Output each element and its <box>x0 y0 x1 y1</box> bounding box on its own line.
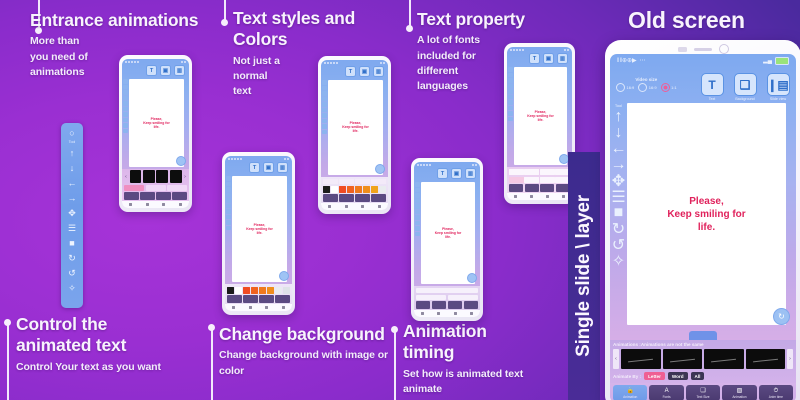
style-button[interactable]: ▧ Animation <box>722 385 756 400</box>
font-cell[interactable] <box>540 177 555 183</box>
background-panel[interactable] <box>225 284 292 304</box>
radio-label: 16:9 <box>627 85 635 90</box>
font-chip[interactable] <box>323 179 338 184</box>
android-nav-bar[interactable] <box>414 310 480 317</box>
tool-button[interactable] <box>339 194 354 202</box>
tool-button[interactable] <box>243 295 258 303</box>
text-tool-button[interactable]: T <box>249 162 260 173</box>
button-caption: Fonts <box>663 395 671 399</box>
text-icon[interactable]: T <box>701 73 724 96</box>
editor-body: Please, Keep smiling for life. <box>122 77 189 169</box>
button-caption: Animation <box>732 395 746 399</box>
arrow-down-glyph: ↓ <box>70 164 75 173</box>
android-nav-bar[interactable] <box>225 304 292 311</box>
scale-glyph: ✧ <box>612 251 625 271</box>
tool-button-row[interactable] <box>124 192 187 200</box>
animation-frame[interactable] <box>746 349 786 369</box>
radio-circle[interactable] <box>616 83 625 92</box>
timing-panel[interactable] <box>414 286 480 311</box>
slide-tool-button[interactable]: ▥ <box>174 65 185 76</box>
feature-title: Entrance animations <box>30 10 220 31</box>
image-tool-button[interactable]: ▣ <box>359 66 370 77</box>
top-controls: Video size 16:9 16:9 1:1 <box>610 67 796 101</box>
phone-mockup-old-screen: ‖‖⊕⊕▶ ⋯ ▂▄ Video size 16:9 <box>605 40 800 400</box>
side-toolbar[interactable] <box>414 180 421 286</box>
feature-title: Text styles and Colors <box>233 8 393 51</box>
feature-title: Animation timing <box>403 321 563 364</box>
battery-icons <box>564 49 569 51</box>
phone-screen: T ▣ ▥ Please, Keep smiling for life. <box>414 162 480 317</box>
android-nav-bar[interactable] <box>122 201 189 208</box>
strip-next-arrow[interactable]: › <box>183 174 187 180</box>
square-icon[interactable]: ■ <box>613 207 624 218</box>
chip[interactable] <box>146 185 166 191</box>
swatch[interactable] <box>235 287 242 294</box>
swatch[interactable] <box>227 287 234 294</box>
single-slide-layer-band: Single slide \ layer <box>568 152 600 400</box>
editor-body: Please, Keep smiling for life. <box>225 174 292 284</box>
old-screen-display: ‖‖⊕⊕▶ ⋯ ▂▄ Video size 16:9 <box>610 54 796 400</box>
button-caption: Animation <box>623 395 637 399</box>
arrow-left-icon[interactable]: ← <box>613 143 624 154</box>
arrow-up-icon[interactable]: ↑ <box>65 146 79 160</box>
tool-button-row[interactable] <box>509 184 570 192</box>
feature-old-screen: Old screen <box>628 6 798 34</box>
status-right: ▂▄ <box>763 57 789 65</box>
text-tool-button[interactable]: T <box>345 66 356 77</box>
status-icons <box>228 158 242 160</box>
text-control-toolbar[interactable]: ○ Tool ↑ ↓ ← → ✥ ☰ ■ ↻ ↺ ✧ <box>61 123 83 308</box>
rotate-cw-icon[interactable]: ↻ <box>613 223 624 234</box>
animation-frame[interactable] <box>156 170 168 183</box>
tool-button[interactable] <box>432 301 446 309</box>
status-left: ‖‖⊕⊕▶ ⋯ <box>617 57 646 64</box>
text-canvas[interactable]: Please, Keep smiling for life. <box>514 67 567 165</box>
chip[interactable] <box>167 185 187 191</box>
tool-button[interactable] <box>464 301 478 309</box>
band-label: Single slide \ layer <box>573 195 595 357</box>
feature-title: Control the animated text <box>16 314 216 357</box>
timing-values-row[interactable] <box>416 295 478 300</box>
arrow-down-icon[interactable]: ↓ <box>65 161 79 175</box>
overflow-icon: ⋯ <box>640 57 646 64</box>
tool-button-row[interactable] <box>323 194 386 202</box>
font-chip[interactable] <box>355 179 370 184</box>
lock-button[interactable]: 🔒 Animation <box>613 385 647 400</box>
text-tool-button[interactable]: T <box>529 53 540 64</box>
battery-icon <box>775 57 789 65</box>
preview-fab[interactable] <box>467 273 477 283</box>
font-row[interactable] <box>323 179 386 184</box>
panel-drag-handle[interactable] <box>610 331 796 340</box>
tool-button[interactable] <box>227 295 242 303</box>
arrow-right-icon[interactable]: → <box>613 159 624 170</box>
tool-button-row[interactable] <box>227 295 290 303</box>
text-tool-button[interactable]: T <box>146 65 157 76</box>
swatch[interactable] <box>355 186 362 193</box>
rotate-cw-glyph: ↻ <box>68 254 76 263</box>
image-tool[interactable]: ❑ Background <box>733 73 757 101</box>
animation-frame[interactable] <box>170 170 182 183</box>
font-grid-row[interactable] <box>509 177 570 183</box>
strip-prev-arrow[interactable]: ‹ <box>124 174 128 180</box>
image-tool-button[interactable]: ▣ <box>451 168 462 179</box>
preview-fab[interactable] <box>279 271 289 281</box>
arrow-left-glyph: ← <box>68 179 77 188</box>
editor-body: Please, Keep smiling for life. <box>414 180 480 286</box>
rotate-ccw-icon[interactable]: ↺ <box>65 266 79 280</box>
animate-by-chips[interactable] <box>124 185 187 191</box>
feature-title: Change background <box>219 324 399 345</box>
swatch[interactable] <box>267 287 274 294</box>
speaker-icon <box>694 48 712 51</box>
text-size-button[interactable]: ❑ Text Size <box>686 385 720 400</box>
animation-filmstrip[interactable]: ‹ › <box>124 170 187 183</box>
arrow-up-icon[interactable]: ↑ <box>613 111 624 122</box>
scale-glyph: ✧ <box>68 284 76 293</box>
connector-dot-4 <box>4 319 11 326</box>
feature-subtitle: Change background with image or color <box>219 348 399 378</box>
canvas-text: Please, Keep smiling for life. <box>143 117 170 129</box>
feature-control-animated-text: Control the animated text Control Your t… <box>16 314 216 375</box>
video-size-options[interactable]: 16:9 16:9 1:1 <box>616 83 677 92</box>
editor-toolbar[interactable]: T ▣ ▥ <box>507 52 572 65</box>
promo-banner: Entrance animations More than you need o… <box>0 0 800 400</box>
feature-change-background: Change background Change background with… <box>219 324 399 379</box>
animation-panel[interactable]: ‹ › <box>122 169 189 201</box>
phone-mockup-background: T ▣ ▥ Please, Keep smiling for life. <box>222 152 295 315</box>
editor-toolbar[interactable]: T ▣ ▥ <box>414 167 480 180</box>
editor-toolbar[interactable]: T ▣ ▥ <box>225 161 292 174</box>
feature-animation-timing: Animation timing Set how is animated tex… <box>403 321 563 397</box>
swatch[interactable] <box>371 186 378 193</box>
editor-body: Tool ↑ ↓ ← → ✥ ☰ ■ ↻ ↺ ✧ Please, Keep sm… <box>610 101 796 331</box>
timing-value[interactable] <box>416 295 446 300</box>
phone-mockup-colors: T ▣ ▥ Please, Keep smiling for life. <box>318 56 391 214</box>
list-icon[interactable]: ☰ <box>65 221 79 235</box>
slide-tool-button[interactable]: ▥ <box>465 168 476 179</box>
font-chip[interactable] <box>371 179 386 184</box>
slide-tool-button[interactable]: ▥ <box>557 53 568 64</box>
tool-button[interactable] <box>275 295 290 303</box>
font-cell[interactable] <box>524 169 539 175</box>
canvas-text-line-1: Please, <box>667 195 745 208</box>
color-swatches[interactable] <box>323 186 386 193</box>
animations-filmstrip[interactable]: ‹ › <box>613 349 793 369</box>
timer-icon: ⏱ <box>773 388 778 394</box>
feature-title: Old screen <box>628 6 798 34</box>
feature-title: Text property <box>417 9 547 30</box>
expand-icon[interactable]: ✥ <box>613 175 624 186</box>
phone-mockup-entrance: T ▣ ▥ Please, Keep smiling for life. ‹ <box>119 55 192 212</box>
tool-button[interactable] <box>416 301 430 309</box>
battery-icons <box>380 62 385 64</box>
status-icons <box>324 62 338 64</box>
preview-fab[interactable] <box>176 156 186 166</box>
scale-icon[interactable]: ✧ <box>65 281 79 295</box>
canvas-text: Please, Keep smiling for life. <box>342 121 369 133</box>
phone-mockup-timing: T ▣ ▥ Please, Keep smiling for life. <box>411 158 483 321</box>
tool-button[interactable] <box>448 301 462 309</box>
arrow-right-icon[interactable]: → <box>65 191 79 205</box>
rotate-ccw-glyph: ↺ <box>68 269 76 278</box>
status-icons <box>510 49 524 51</box>
tool-button[interactable] <box>355 194 370 202</box>
feature-subtitle: Set how is animated text animate <box>403 367 563 397</box>
swatch[interactable] <box>259 287 266 294</box>
strip-prev-arrow[interactable]: ‹ <box>613 349 619 369</box>
font-chip[interactable] <box>339 179 354 184</box>
scale-icon[interactable]: ✧ <box>613 255 624 266</box>
battery-icons <box>284 158 289 160</box>
swatch[interactable] <box>251 287 258 294</box>
swatch[interactable] <box>331 186 338 193</box>
animate-by-group[interactable]: Animate By : Letter Word All <box>613 372 793 380</box>
rotate-cw-icon[interactable]: ↻ <box>65 251 79 265</box>
style-icon: ▧ <box>737 388 743 394</box>
editor-toolbar[interactable]: T ▣ ▥ <box>122 64 189 77</box>
tool-button[interactable] <box>156 192 171 200</box>
canvas-text: Please, Keep smiling for life. <box>435 227 462 239</box>
tool-button[interactable] <box>172 192 187 200</box>
canvas-text-line-3: life. <box>527 118 554 122</box>
font-icon: A <box>665 388 669 394</box>
phone-screen: T ▣ ▥ Please, Keep smiling for life. <box>321 60 388 210</box>
font-button[interactable]: A Fonts <box>649 385 683 400</box>
slide-tool-button[interactable]: ▥ <box>373 66 384 77</box>
color-swatches[interactable] <box>227 287 290 294</box>
swatch[interactable] <box>243 287 250 294</box>
swatch[interactable] <box>275 287 282 294</box>
list-glyph: ☰ <box>68 224 76 233</box>
phone-screen: T ▣ ▥ Please, Keep smiling for life. <box>225 156 292 311</box>
text-control-toolbar[interactable]: Tool ↑ ↓ ← → ✥ ☰ ■ ↻ ↺ ✧ <box>610 101 627 331</box>
arrow-right-glyph: → <box>68 194 77 203</box>
swatch[interactable] <box>323 186 330 193</box>
tool-button[interactable] <box>509 184 523 192</box>
square-icon[interactable]: ■ <box>65 236 79 250</box>
video-size-group[interactable]: Video size 16:9 16:9 1:1 <box>616 73 677 92</box>
button-caption: Text Size <box>697 395 710 399</box>
tool-button[interactable] <box>371 194 386 202</box>
animation-frame[interactable] <box>130 170 142 183</box>
tool-button[interactable] <box>323 194 338 202</box>
tool-button[interactable] <box>124 192 139 200</box>
font-cell[interactable] <box>524 177 539 183</box>
tool-button[interactable] <box>540 184 554 192</box>
animation-frame[interactable] <box>143 170 155 183</box>
phone-screen: T ▣ ▥ Please, Keep smiling for life. ‹ <box>122 59 189 208</box>
arrow-left-icon[interactable]: ← <box>65 176 79 190</box>
font-cell[interactable] <box>540 169 555 175</box>
animate-by-all[interactable]: All <box>691 372 705 380</box>
animate-by-word[interactable]: Word <box>668 372 688 380</box>
animations-header: Animations :Animations are not the same <box>613 342 793 347</box>
connector-line-3 <box>409 0 411 28</box>
text-canvas[interactable]: Please, Keep smiling for life. <box>421 182 475 284</box>
side-toolbar[interactable] <box>122 77 129 169</box>
slides-icon[interactable]: ❙▤ <box>767 73 790 96</box>
canvas-text: Please, Keep smiling for life. <box>246 223 273 235</box>
play-preview-button[interactable]: ↻ <box>773 308 790 325</box>
square-glyph: ■ <box>69 239 74 248</box>
animation-frame[interactable] <box>663 349 703 369</box>
tool-button-row[interactable] <box>416 301 478 309</box>
image-icon[interactable]: ❑ <box>734 73 757 96</box>
status-icons: ‖‖⊕⊕▶ <box>617 57 637 64</box>
swatch[interactable] <box>347 186 354 193</box>
none-glyph: ○ <box>69 129 74 138</box>
text-canvas[interactable]: Please, Keep smiling for life. <box>129 79 184 167</box>
timing-button[interactable]: ⏱ Anim time <box>759 385 793 400</box>
editor-body: Please, Keep smiling for life. <box>321 78 388 177</box>
canvas-text-line-3: life. <box>667 221 745 234</box>
list-icon[interactable]: ☰ <box>613 191 624 202</box>
tool-button[interactable] <box>140 192 155 200</box>
connector-line-4 <box>7 322 9 400</box>
animations-panel[interactable]: Animations :Animations are not the same … <box>610 340 796 383</box>
image-tool-button[interactable]: ▣ <box>263 162 274 173</box>
canvas-text-line-3: life. <box>435 235 462 239</box>
radio-option[interactable]: 16:9 <box>638 83 656 92</box>
animation-frame[interactable] <box>621 349 661 369</box>
image-tool-button[interactable]: ▣ <box>543 53 554 64</box>
image-tool-button[interactable]: ▣ <box>160 65 171 76</box>
swatch[interactable] <box>283 287 290 294</box>
side-toolbar[interactable] <box>321 78 328 177</box>
editor-toolbar[interactable]: T ▣ ▥ <box>321 65 388 78</box>
sensor-icon <box>678 47 687 52</box>
tool-button[interactable] <box>525 184 539 192</box>
slides-tool[interactable]: ❙▤ Slide view <box>766 73 790 101</box>
phone-screen: T ▣ ▥ Please, Keep smiling for life. <box>507 47 572 200</box>
text-canvas[interactable]: Please, Keep smiling for life. <box>232 176 287 282</box>
radio-label: 16:9 <box>649 85 657 90</box>
battery-icons <box>181 61 186 63</box>
text-canvas[interactable]: Please, Keep smiling for life. <box>328 80 383 175</box>
android-nav-bar[interactable] <box>321 203 388 210</box>
none-icon[interactable]: ○ <box>65 126 79 140</box>
text-size-icon: ❑ <box>700 388 705 394</box>
phone-notch <box>610 44 796 54</box>
status-icons <box>125 61 139 63</box>
font-grid-row[interactable] <box>509 169 570 175</box>
color-panel[interactable] <box>321 177 388 204</box>
slide-tool-button[interactable]: ▥ <box>277 162 288 173</box>
timing-slider[interactable] <box>416 288 478 293</box>
android-nav-bar[interactable] <box>507 193 572 200</box>
battery-icons <box>472 164 477 166</box>
toolbar-caption: Tool <box>69 140 75 144</box>
text-canvas[interactable]: Please, Keep smiling for life. <box>627 103 786 325</box>
radio-option[interactable]: 1:1 <box>661 83 677 92</box>
play-icon: ↻ <box>778 312 785 321</box>
swatch[interactable] <box>363 186 370 193</box>
animation-frame[interactable] <box>704 349 744 369</box>
preview-fab[interactable] <box>375 164 385 174</box>
connector-dot-3 <box>406 25 413 32</box>
radio-circle-selected[interactable] <box>661 83 670 92</box>
swatch[interactable] <box>379 186 386 193</box>
editor-body: Please, Keep smiling for life. <box>507 65 572 167</box>
arrow-up-glyph: ↑ <box>70 149 75 158</box>
text-tool-button[interactable]: T <box>437 168 448 179</box>
status-icons <box>417 164 431 166</box>
timing-value[interactable] <box>448 295 478 300</box>
canvas-text: Please, Keep smiling for life. <box>527 110 554 122</box>
rotate-ccw-icon[interactable]: ↺ <box>613 239 624 250</box>
camera-icon <box>719 44 729 54</box>
phone-mockup-fonts: T ▣ ▥ Please, Keep smiling for life. <box>504 43 575 204</box>
side-toolbar[interactable] <box>507 65 514 167</box>
arrow-down-icon[interactable]: ↓ <box>613 127 624 138</box>
strip-next-arrow[interactable]: › <box>787 349 793 369</box>
radio-option[interactable]: 16:9 <box>616 83 634 92</box>
font-cell[interactable] <box>509 177 524 183</box>
font-cell[interactable] <box>509 169 524 175</box>
chip[interactable] <box>124 185 144 191</box>
animate-by-letter[interactable]: Letter <box>644 372 665 380</box>
swatch[interactable] <box>339 186 346 193</box>
radio-circle[interactable] <box>638 83 647 92</box>
canvas-text-line-3: life. <box>143 125 170 129</box>
tool-button[interactable] <box>259 295 274 303</box>
timing-slider-row[interactable] <box>416 288 478 293</box>
status-bar: ‖‖⊕⊕▶ ⋯ ▂▄ <box>610 54 796 67</box>
font-panel[interactable] <box>507 167 572 194</box>
canvas-text-line-3: life. <box>342 129 369 133</box>
button-caption: Anim time <box>769 395 783 399</box>
bottom-toolbar[interactable]: 🔒 Animation A Fonts ❑ Text Size ▧ Animat… <box>610 383 796 400</box>
signal-icon: ▂▄ <box>763 57 772 64</box>
canvas-text-line-3: life. <box>246 231 273 235</box>
feature-subtitle: Control Your text as you want <box>16 360 216 375</box>
canvas-text-line-2: Keep smiling for <box>667 208 745 221</box>
animate-by-label: Animate By : <box>613 374 641 379</box>
canvas-text: Please, Keep smiling for life. <box>667 195 745 234</box>
expand-glyph: ✥ <box>68 209 76 218</box>
radio-label: 1:1 <box>671 85 677 90</box>
main-tool-buttons[interactable]: T Text ❑ Background ❙▤ Slide view <box>700 73 790 101</box>
video-size-label: Video size <box>616 77 677 82</box>
expand-icon[interactable]: ✥ <box>65 206 79 220</box>
connector-dot-2 <box>221 19 228 26</box>
side-toolbar[interactable] <box>225 174 232 284</box>
text-tool[interactable]: T Text <box>700 73 724 101</box>
lock-icon: 🔒 <box>626 388 633 394</box>
